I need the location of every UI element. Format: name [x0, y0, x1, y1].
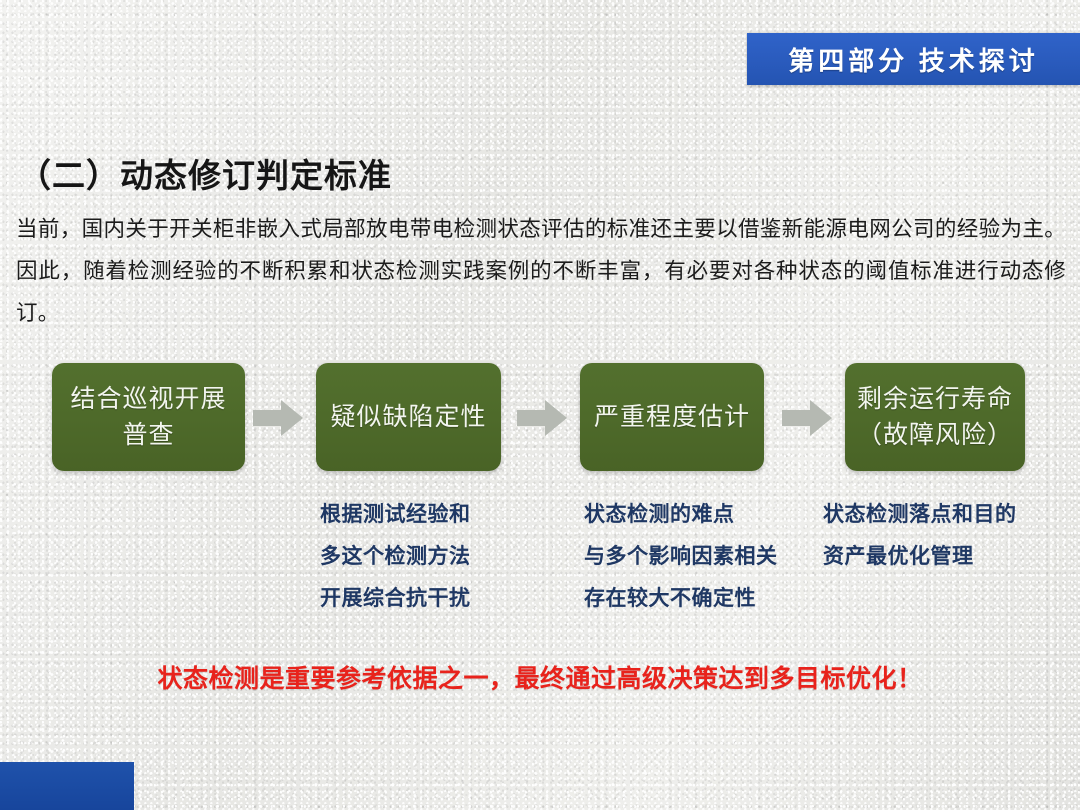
slide-canvas: 第四部分 技术探讨 （二）动态修订判定标准 当前，国内关于开关柜非嵌入式局部放电…	[0, 0, 1080, 810]
ghost-line-3: 备	[0, 92, 420, 138]
page-title: （二）动态修订判定标准	[18, 149, 718, 197]
section-header-banner: 第四部分 技术探讨	[747, 33, 1080, 85]
flow-box-label: 严重程度估计	[594, 399, 750, 435]
flow-caption-severity-estimation: 状态检测的难点 与多个影响因素相关 存在较大不确定性	[584, 494, 834, 620]
flow-arrow-right-icon	[780, 398, 834, 438]
flow-box-defect-qualification[interactable]: 疑似缺陷定性	[316, 363, 501, 471]
ghost-line-1: （3）完善检测技术手段	[0, 0, 420, 46]
bottom-left-decoration-bar	[0, 762, 134, 810]
flow-caption-defect-qualification: 根据测试经验和 多这个检测方法 开展综合抗干扰	[320, 494, 580, 620]
conclusion-statement: 状态检测是重要参考依据之一，最终通过高级决策达到多目标优化！	[0, 659, 1080, 695]
flow-box-label: 疑似缺陷定性	[330, 399, 486, 435]
flow-box-label: 剩余运行寿命 （故障风险）	[857, 381, 1013, 453]
flow-arrow-right-icon	[515, 398, 569, 438]
ghost-line-2: 措	[0, 46, 420, 92]
section-header-text: 第四部分 技术探讨	[788, 41, 1039, 78]
body-paragraph: 当前，国内关于开关柜非嵌入式局部放电带电检测状态评估的标准还主要以借鉴新能源电网…	[16, 208, 1066, 334]
flow-caption-remaining-life: 状态检测落点和目的 资产最优化管理	[823, 494, 1073, 578]
flow-box-label: 结合巡视开展 普查	[70, 381, 226, 453]
flow-box-inspection-survey[interactable]: 结合巡视开展 普查	[52, 363, 245, 471]
flow-box-severity-estimation[interactable]: 严重程度估计	[580, 363, 764, 471]
flow-box-remaining-life[interactable]: 剩余运行寿命 （故障风险）	[845, 363, 1025, 471]
flow-arrow-right-icon	[251, 398, 305, 438]
